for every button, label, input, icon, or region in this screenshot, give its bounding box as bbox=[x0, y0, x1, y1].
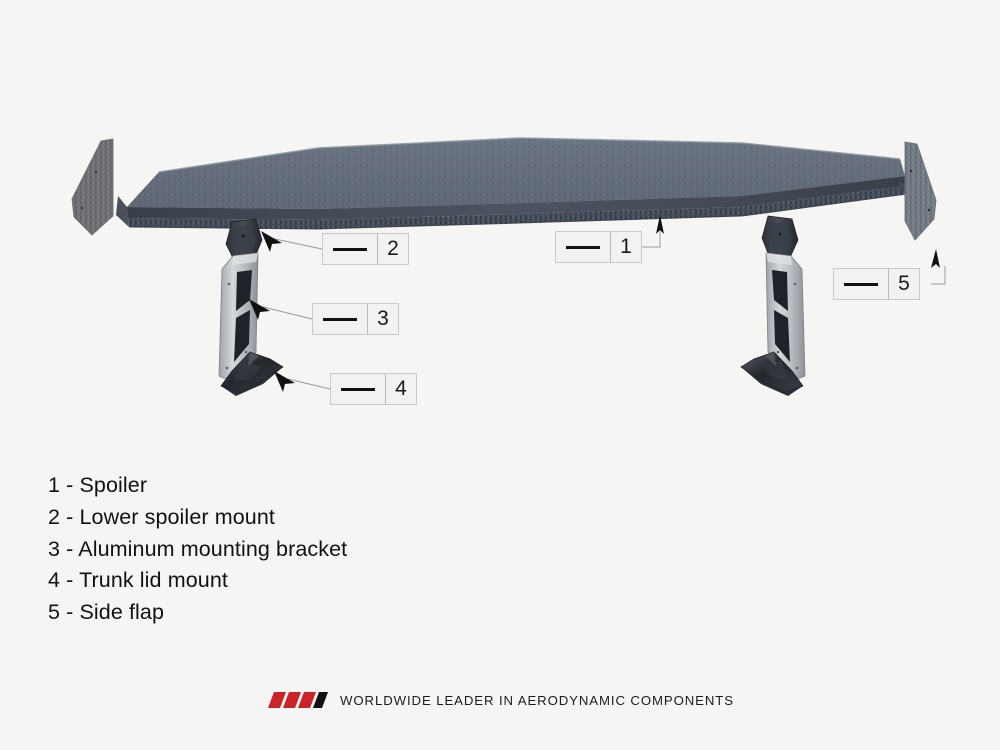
diagram-canvas: 1 2 3 4 5 1 - Spoiler 2 - Lower spoiler … bbox=[0, 0, 1000, 750]
footer-branding: WORLDWIDE LEADER IN AERODYNAMIC COMPONEN… bbox=[0, 690, 1000, 710]
callout-number: 2 bbox=[387, 238, 399, 261]
side-flap-right bbox=[905, 142, 936, 240]
spoiler-illustration bbox=[0, 0, 1000, 750]
callout-number-cell: 2 bbox=[378, 234, 408, 264]
main-wing-blade bbox=[116, 138, 907, 229]
legend-item-5: 5 - Side flap bbox=[48, 597, 347, 629]
dash-icon bbox=[323, 318, 357, 321]
callout-number: 3 bbox=[377, 308, 389, 331]
callout-number-cell: 4 bbox=[386, 374, 416, 404]
callout-box-2[interactable]: 2 bbox=[322, 233, 409, 265]
callout-box-3[interactable]: 3 bbox=[312, 303, 399, 335]
parts-legend: 1 - Spoiler 2 - Lower spoiler mount 3 - … bbox=[48, 470, 347, 629]
callout-number: 5 bbox=[898, 273, 910, 296]
callout-box-4[interactable]: 4 bbox=[330, 373, 417, 405]
footer-tagline: WORLDWIDE LEADER IN AERODYNAMIC COMPONEN… bbox=[340, 693, 734, 708]
side-flap-left bbox=[72, 139, 113, 235]
callout-number-cell: 1 bbox=[611, 232, 641, 262]
dash-icon bbox=[341, 388, 375, 391]
legend-item-2: 2 - Lower spoiler mount bbox=[48, 502, 347, 534]
legend-item-4: 4 - Trunk lid mount bbox=[48, 565, 347, 597]
callout-dash-cell bbox=[323, 234, 378, 264]
callout-number: 4 bbox=[395, 378, 407, 401]
callout-number-cell: 3 bbox=[368, 304, 398, 334]
callout-dash-cell bbox=[834, 269, 889, 299]
callout-dash-cell bbox=[331, 374, 386, 404]
dash-icon bbox=[333, 248, 367, 251]
callout-dash-cell bbox=[313, 304, 368, 334]
callout-number-cell: 5 bbox=[889, 269, 919, 299]
callout-box-1[interactable]: 1 bbox=[555, 231, 642, 263]
legend-item-1: 1 - Spoiler bbox=[48, 470, 347, 502]
dash-icon bbox=[844, 283, 878, 286]
legend-item-3: 3 - Aluminum mounting bracket bbox=[48, 534, 347, 566]
dash-icon bbox=[566, 246, 600, 249]
callout-number: 1 bbox=[620, 236, 632, 259]
brand-slash-logo-icon bbox=[266, 690, 328, 710]
callout-dash-cell bbox=[556, 232, 611, 262]
callout-box-5[interactable]: 5 bbox=[833, 268, 920, 300]
